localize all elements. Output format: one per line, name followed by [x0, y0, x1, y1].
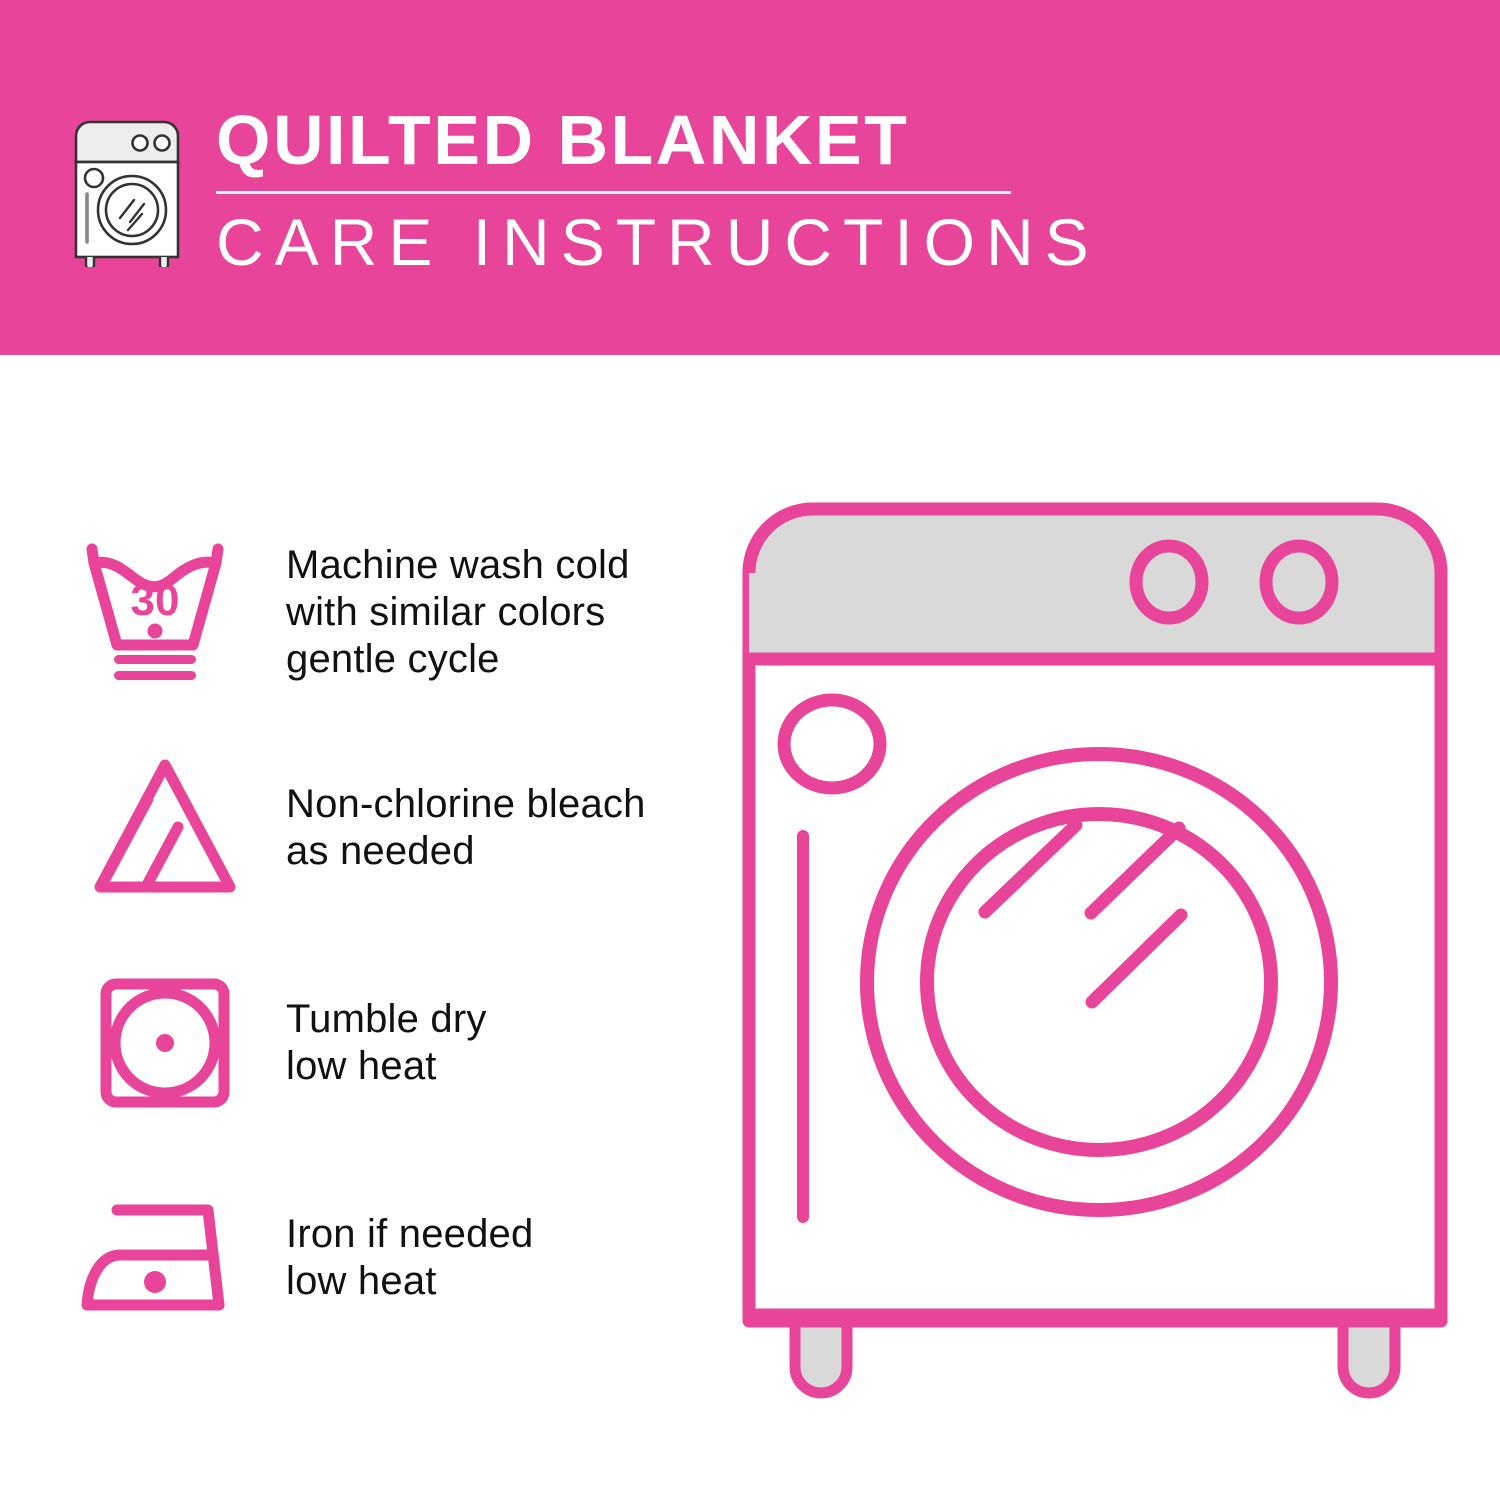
header-banner: QUILTED BLANKET CARE INSTRUCTIONS: [0, 0, 1500, 355]
list-item-label: Non-chlorine bleach as needed: [260, 781, 646, 875]
page-title: QUILTED BLANKET: [214, 102, 1100, 178]
wash-temperature-label: 30: [131, 576, 180, 625]
header-content: QUILTED BLANKET CARE INSTRUCTIONS: [62, 100, 1100, 278]
care-instruction-list: 30 Machine wash cold with similar colors…: [70, 505, 710, 1365]
header-title-group: QUILTED BLANKET CARE INSTRUCTIONS: [214, 100, 1100, 278]
wash-tub-30-gentle-icon: 30: [70, 533, 260, 693]
title-divider: [216, 191, 1011, 194]
list-item: Iron if needed low heat: [70, 1150, 710, 1365]
list-item-label: Machine wash cold with similar colors ge…: [260, 542, 630, 683]
list-item: Non-chlorine bleach as needed: [70, 720, 710, 935]
page-subtitle: CARE INSTRUCTIONS: [214, 206, 1100, 278]
front-load-washing-machine-illustration: [735, 495, 1455, 1435]
non-chlorine-bleach-triangle-icon: [70, 753, 260, 903]
list-item-label: Tumble dry low heat: [260, 996, 487, 1090]
tumble-dry-low-icon: [70, 968, 260, 1118]
iron-low-heat-icon: [70, 1193, 260, 1323]
list-item-label: Iron if needed low heat: [260, 1211, 533, 1305]
content-area: 30 Machine wash cold with similar colors…: [0, 355, 1500, 1500]
list-item: 30 Machine wash cold with similar colors…: [70, 505, 710, 720]
list-item: Tumble dry low heat: [70, 935, 710, 1150]
washing-machine-icon: [62, 112, 192, 267]
